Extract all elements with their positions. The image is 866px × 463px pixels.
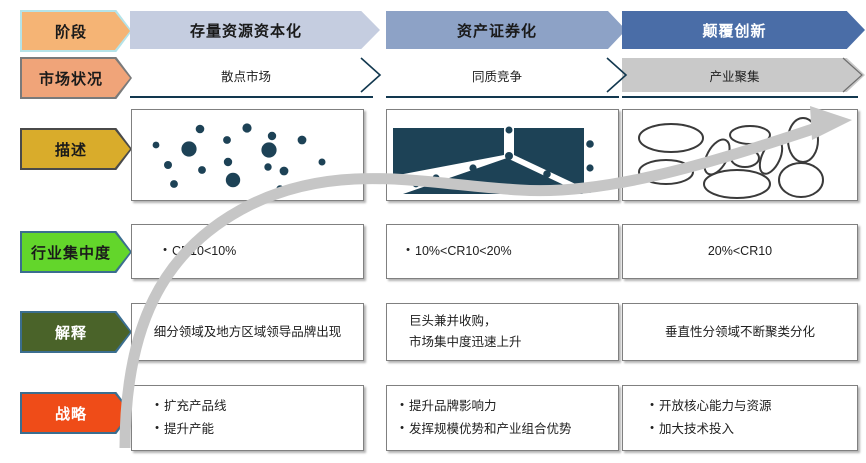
row-label-describe-text: 描述 (55, 139, 87, 160)
concentration-panel-1: • CR10<10% (131, 224, 364, 279)
polygon-blocks-icon (387, 110, 620, 202)
market-underline-1 (130, 96, 373, 98)
strategy-2-item-2: 发挥规模优势和产业组合优势 (409, 421, 572, 438)
concentration-text-3: 20%<CR10 (623, 225, 857, 278)
stage-chevron-1[interactable]: 存量资源资本化 (130, 11, 380, 49)
market-chevron-1[interactable]: 散点市场 (130, 58, 380, 92)
stage-chevron-2-label: 资产证券化 (457, 20, 537, 41)
market-underline-3 (622, 96, 858, 98)
description-panel-2 (386, 109, 619, 201)
description-panel-1 (131, 109, 364, 201)
slide-canvas: 阶段 市场状况 描述 行业集中度 解释 战略 存量资源资本化 资产证券化 颠覆创… (0, 0, 866, 463)
explanation-panel-2: 巨头兼并收购， 市场集中度迅速上升 (386, 303, 619, 361)
list-item: • 10%<CR10<20% (387, 243, 618, 260)
strategy-1-item-2: 提升产能 (164, 421, 214, 438)
list-item: • 扩充产品线 (150, 398, 381, 415)
market-chevron-2[interactable]: 同质竞争 (386, 58, 626, 92)
bullet-icon: • (401, 243, 415, 258)
row-label-market-text: 市场状况 (39, 68, 103, 89)
bullet-icon: • (158, 243, 172, 258)
row-label-market[interactable]: 市场状况 (22, 59, 130, 97)
concentration-text-2: 10%<CR10<20% (415, 243, 512, 260)
bullet-icon: • (395, 398, 409, 413)
description-panel-3 (622, 109, 858, 201)
explanation-panel-1: 细分领域及地方区域领导品牌出现 (131, 303, 364, 361)
row-label-concentration-text: 行业集中度 (31, 242, 111, 263)
strategy-panel-3: • 开放核心能力与资源 • 加大技术投入 (622, 385, 858, 451)
market-underline-2 (386, 96, 619, 98)
market-chevron-3-label: 产业聚集 (709, 66, 759, 85)
strategy-2-item-1: 提升品牌影响力 (409, 398, 497, 415)
concentration-text-1: CR10<10% (172, 243, 236, 260)
row-label-concentration[interactable]: 行业集中度 (22, 233, 130, 271)
row-label-stage[interactable]: 阶段 (22, 12, 130, 50)
explanation-panel-3: 垂直性分领域不断聚类分化 (622, 303, 858, 361)
explanation-text-2-line2: 市场集中度迅速上升 (409, 332, 640, 353)
list-item: • 加大技术投入 (645, 421, 866, 438)
explanation-text-3: 垂直性分领域不断聚类分化 (623, 304, 857, 360)
concentration-panel-2: • 10%<CR10<20% (386, 224, 619, 279)
list-item: • 提升产能 (150, 421, 381, 438)
stage-chevron-2[interactable]: 资产证券化 (386, 11, 626, 49)
bullet-icon: • (150, 421, 164, 436)
bullet-icon: • (645, 398, 659, 413)
explanation-text-2-line1: 巨头兼并收购， (409, 311, 640, 332)
stage-chevron-1-label: 存量资源资本化 (190, 20, 302, 41)
row-label-strategy-text: 战略 (55, 403, 87, 424)
strategy-panel-1: • 扩充产品线 • 提升产能 (131, 385, 364, 451)
explanation-text-1: 细分领域及地方区域领导品牌出现 (132, 304, 363, 360)
list-item: • 发挥规模优势和产业组合优势 (395, 421, 626, 438)
scatter-dots-icon (132, 110, 365, 202)
bullet-icon: • (150, 398, 164, 413)
ellipse-cluster-icon (623, 110, 859, 202)
row-label-explain-text: 解释 (55, 322, 87, 343)
list-item: • CR10<10% (132, 243, 363, 260)
row-label-explain[interactable]: 解释 (22, 313, 130, 351)
list-item: • 开放核心能力与资源 (645, 398, 866, 415)
market-chevron-1-label: 散点市场 (221, 66, 271, 85)
row-label-stage-text: 阶段 (55, 21, 87, 42)
market-chevron-2-label: 同质竞争 (472, 66, 522, 85)
strategy-1-item-1: 扩充产品线 (164, 398, 227, 415)
market-chevron-3[interactable]: 产业聚集 (622, 58, 865, 92)
strategy-3-item-2: 加大技术投入 (659, 421, 734, 438)
stage-chevron-3-label: 颠覆创新 (702, 20, 766, 41)
row-label-strategy[interactable]: 战略 (22, 394, 130, 432)
concentration-panel-3: 20%<CR10 (622, 224, 858, 279)
bullet-icon: • (645, 421, 659, 436)
stage-chevron-3[interactable]: 颠覆创新 (622, 11, 865, 49)
strategy-3-item-1: 开放核心能力与资源 (659, 398, 772, 415)
bullet-icon: • (395, 421, 409, 436)
list-item: • 提升品牌影响力 (395, 398, 626, 415)
row-label-describe[interactable]: 描述 (22, 130, 130, 168)
strategy-panel-2: • 提升品牌影响力 • 发挥规模优势和产业组合优势 (386, 385, 619, 451)
